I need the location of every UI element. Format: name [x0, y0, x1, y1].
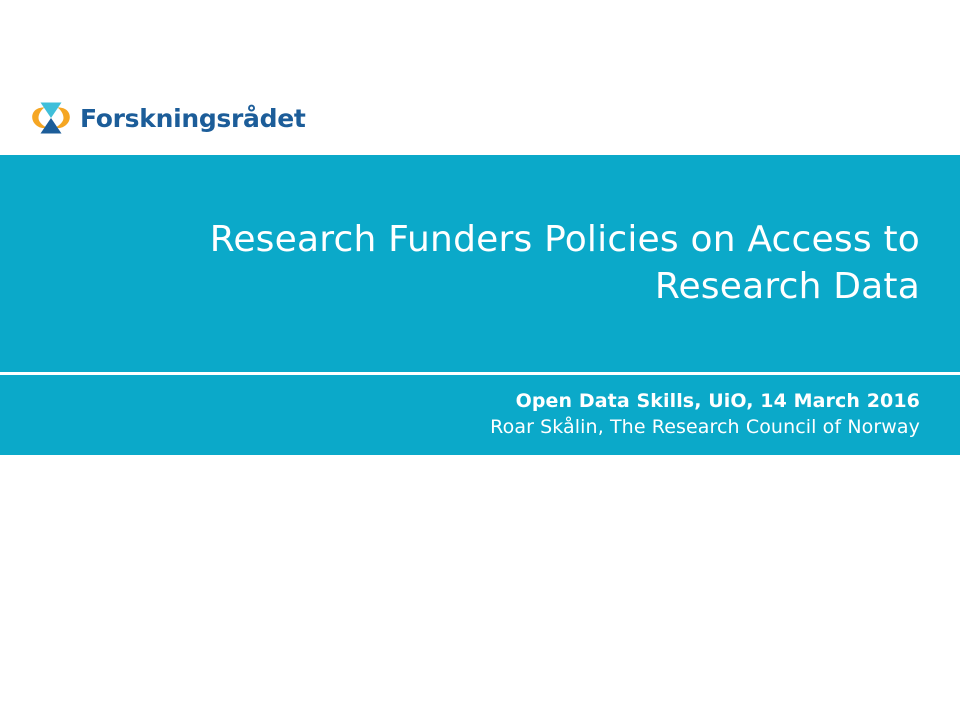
- forskningsradet-logo-mark-icon: [30, 97, 72, 139]
- title-band: Research Funders Policies on Access to R…: [0, 155, 960, 455]
- logo-wordmark: Forskningsrådet: [80, 106, 306, 131]
- forskningsradet-logo: Forskningsrådet: [30, 96, 306, 140]
- slide-body-empty: [0, 455, 960, 720]
- page-title: Research Funders Policies on Access to R…: [180, 217, 920, 309]
- event-subtitle: Open Data Skills, UiO, 14 March 2016: [180, 389, 920, 415]
- presenter-subtitle: Roar Skålin, The Research Council of Nor…: [180, 415, 920, 441]
- subtitle-zone: Open Data Skills, UiO, 14 March 2016 Roa…: [0, 375, 960, 455]
- slide-header: Forskningsrådet: [0, 0, 960, 155]
- title-zone: Research Funders Policies on Access to R…: [0, 155, 960, 372]
- presentation-slide: Forskningsrådet Research Funders Policie…: [0, 0, 960, 720]
